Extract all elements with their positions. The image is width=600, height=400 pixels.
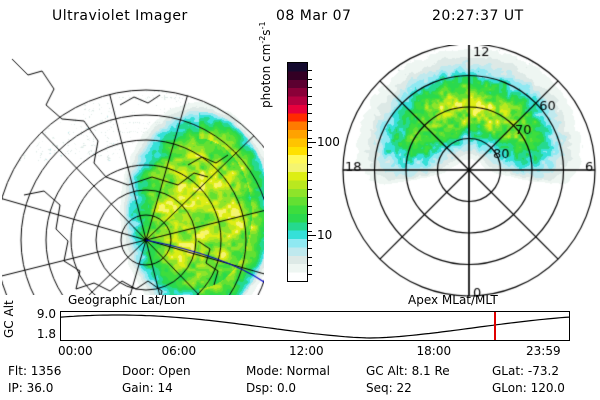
orbit-xtick-2: 12:00 <box>289 344 324 358</box>
status-bar: Flt: 1356 Door: Open Mode: Normal GC Alt… <box>0 364 600 398</box>
status-row-1: Flt: 1356 Door: Open Mode: Normal GC Alt… <box>0 364 600 381</box>
mlt-panel-caption: Apex MLat/MLT <box>408 293 498 307</box>
current-time-marker <box>494 312 496 340</box>
colorbar-tick-label-1: 10 <box>317 229 332 241</box>
orbit-xtick-0: 00:00 <box>58 344 93 358</box>
colorbar-minor-tick <box>308 189 312 190</box>
page-title: Ultraviolet Imager <box>52 8 188 24</box>
observation-time: 20:27:37 UT <box>432 8 524 24</box>
orbit-altitude-plot[interactable] <box>60 311 570 341</box>
status-gain: Gain: 14 <box>122 381 173 395</box>
observation-date: 08 Mar 07 <box>276 8 351 24</box>
status-seq: Seq: 22 <box>366 381 412 395</box>
status-mode: Mode: Normal <box>246 364 330 378</box>
status-ip: IP: 36.0 <box>8 381 53 395</box>
geographic-aurora-image <box>2 45 264 295</box>
uvi-display: Ultraviolet Imager 08 Mar 07 20:27:37 UT… <box>0 0 600 400</box>
colorbar-minor-tick <box>308 248 312 249</box>
colorbar-minor-tick <box>308 172 312 173</box>
mlt-aurora-image <box>340 45 598 297</box>
colorbar-major-tick <box>308 142 316 143</box>
colorbar-minor-tick <box>308 197 312 198</box>
colorbar-minor-tick <box>308 113 312 114</box>
colorbar-minor-tick <box>308 147 312 148</box>
colorbar-minor-tick <box>308 180 312 181</box>
geographic-polar-plot <box>2 45 264 295</box>
colorbar-minor-tick <box>308 130 312 131</box>
status-flt: Flt: 1356 <box>8 364 61 378</box>
colorbar-tick-label-0: 100 <box>317 136 340 148</box>
colorbar-minor-tick <box>308 155 312 156</box>
colorbar-minor-tick <box>308 231 312 232</box>
colorbar-minor-tick <box>308 164 312 165</box>
colorbar-minor-tick <box>308 223 312 224</box>
orbit-xtick-1: 06:00 <box>162 344 197 358</box>
colorbar-minor-tick <box>308 240 312 241</box>
orbit-altitude-trace <box>61 312 569 340</box>
colorbar-minor-tick <box>308 104 312 105</box>
colorbar-minor-tick <box>308 96 312 97</box>
status-glon: GLon: 120.0 <box>492 381 565 395</box>
orbit-ytick-high: 9.0 <box>22 307 56 321</box>
colorbar-minor-tick <box>308 274 312 275</box>
geographic-panel-caption: Geographic Lat/Lon <box>68 293 185 307</box>
colorbar-axis-label: photon cm-2s-1 <box>258 88 273 108</box>
apex-mlat-mlt-plot <box>340 45 598 297</box>
colorbar-minor-tick <box>308 87 312 88</box>
colorbar-minor-tick <box>308 70 312 71</box>
status-door: Door: Open <box>122 364 191 378</box>
colorbar-minor-tick <box>308 257 312 258</box>
orbit-ytick-low: 1.8 <box>22 327 56 341</box>
colorbar-minor-tick <box>308 138 312 139</box>
colorbar-gradient <box>287 62 308 282</box>
status-glat: GLat: -73.2 <box>492 364 559 378</box>
colorbar-minor-tick <box>308 121 312 122</box>
colorbar-minor-tick <box>308 79 312 80</box>
colorbar: 10010 <box>287 62 308 282</box>
orbit-y-axis-text: GC Alt <box>2 300 16 338</box>
orbit-xtick-3: 18:00 <box>417 344 452 358</box>
colorbar-minor-tick <box>308 206 312 207</box>
status-gc-alt: GC Alt: 8.1 Re <box>366 364 450 378</box>
colorbar-major-tick <box>308 235 316 236</box>
colorbar-minor-tick <box>308 214 312 215</box>
colorbar-minor-tick <box>308 265 312 266</box>
status-row-2: IP: 36.0 Gain: 14 Dsp: 0.0 Seq: 22 GLon:… <box>0 381 600 398</box>
orbit-xtick-4: 23:59 <box>526 344 561 358</box>
status-dsp: Dsp: 0.0 <box>246 381 296 395</box>
